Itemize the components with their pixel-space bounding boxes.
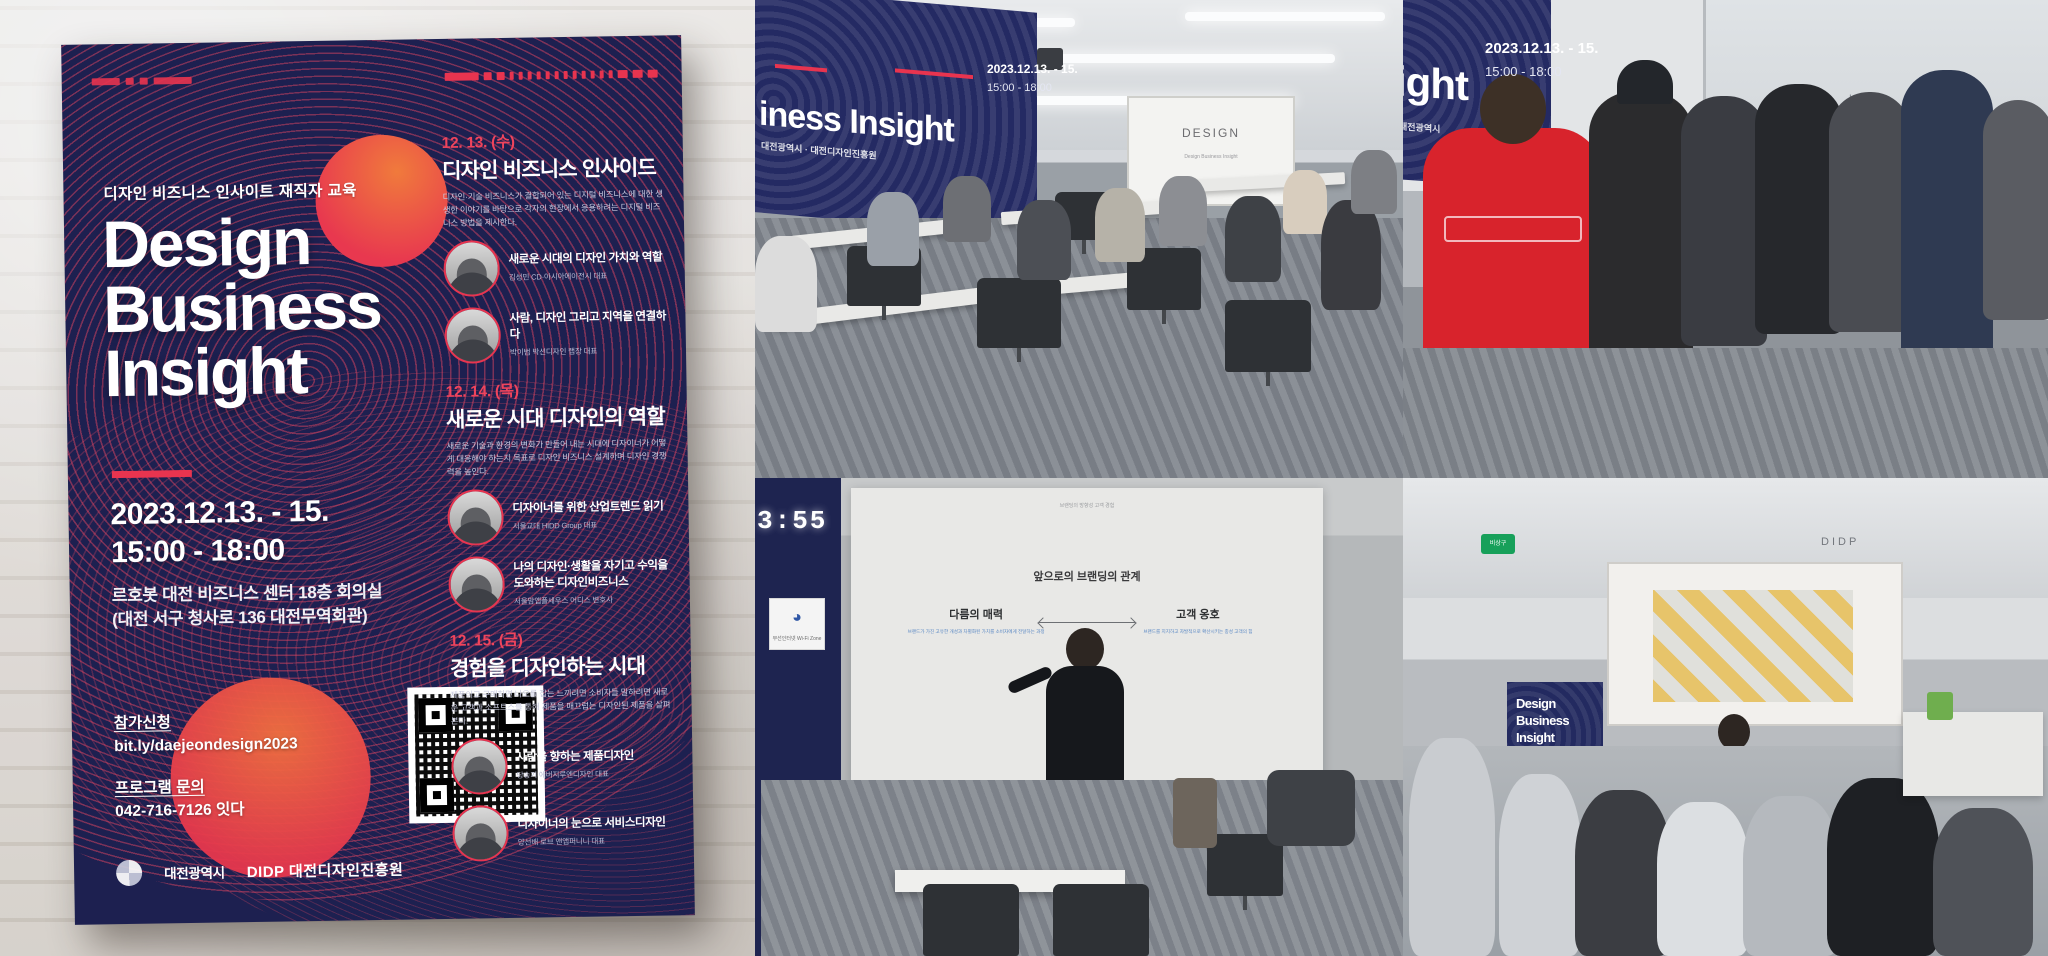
schedule-desc-2: 제품이고 구매하면 나오를 잡는 느끼려면 소비자들 말하려면 새로운 고객과 … (450, 685, 676, 728)
cap-icon (1617, 60, 1673, 104)
poster-title-line-2: Business (103, 271, 454, 341)
photo1-banner-date: 2023.12.13. - 15. (987, 62, 1083, 76)
chair-wood (1173, 778, 1217, 848)
exit-sign-icon: 비상구 (1481, 534, 1515, 554)
plant-icon (1927, 692, 1953, 720)
attendee (1933, 808, 2033, 956)
wifi-icon: ◕ (792, 609, 802, 627)
poster-apply-url: bit.ly/daejeondesign2023 (114, 731, 414, 759)
attendee (1283, 170, 1327, 234)
photo2-banner-sub: 대전광역시 (1403, 119, 1440, 135)
poster-footer-logos: 대전광역시 DIDP 대전디자인진흥원 (116, 856, 404, 887)
speaker-name-1-0: 서울교대 HIDD Group 대표 (513, 519, 673, 533)
poster-venue-block: 르호봇 대전 비즈니스 센터 18층 회의실 (대전 서구 청사로 136 대전… (112, 579, 453, 633)
speaker-title-0-1: 사람, 디자인 그리고 지역을 연결하다 (509, 309, 669, 343)
speaker-name-2-0: 당송기 에버지루엔디자인 대표 (517, 768, 677, 782)
poster-red-divider (112, 470, 192, 478)
photo3-slide-right-body: 브랜드를 지지하고 자발적으로 확산시키는 충성 고객의 힘 (1111, 629, 1285, 636)
photo4-projection-screen (1607, 562, 1903, 726)
speaker-title-1-1: 나의 디자인·생활을 자기고 수익을 도와하는 디자인비즈니스 (513, 558, 673, 592)
speaker-row: 사람을 향하는 제품디자인 당송기 에버지루엔디자인 대표 (451, 735, 677, 795)
chair (1053, 884, 1149, 956)
poster-inquiry-phone: 042-716-7126 잇다 (115, 795, 415, 823)
speaker-row: 사람, 디자인 그리고 지역을 연결하다 박이범 박선디자인 랩장 대표 (444, 304, 670, 364)
photo2-banner-title: ight (1403, 57, 1468, 110)
photo4-rollup-title-3: Insight (1516, 730, 1554, 745)
speaker-row: 디자이너의 눈으로 서비스디자인 양선배 로브 앤앱퍼니니 대표 (452, 802, 678, 862)
poster-date-block: 2023.12.13. - 15. 15:00 - 18:00 (110, 491, 441, 571)
poster-dash-code-left (92, 77, 192, 86)
poster-dash-code-right (445, 70, 658, 81)
attendee (943, 176, 991, 242)
chair (923, 884, 1019, 956)
speaker-title-0-0: 새로운 시대의 디자인 가치와 역할 (508, 250, 668, 268)
photo4-wall-text: DIDP (1821, 536, 1859, 548)
photo-lecture-room-wide: iness Insight 대전광역시 · 대전디자인진흥원 2023.12.1… (755, 0, 1403, 478)
speaker-title-1-0: 디자이너를 위한 산업트렌드 읽기 (512, 499, 672, 517)
photo2-carpet (1403, 348, 2048, 478)
photo3-slide-title: 앞으로의 브랜딩의 관계 (851, 568, 1323, 584)
photo2-person-red-hoodie (1423, 128, 1603, 368)
poster-title: Design Business Insight (102, 207, 455, 406)
speaker-avatar (444, 307, 501, 364)
photo-presenter-with-slide: 3:55 ◕ 무선인터넷 Wi-Fi Zone 브랜딩의 방향성 고객 경험 앞… (755, 478, 1403, 956)
photo3-slide-right-head: 고객 옹호 (1111, 606, 1285, 622)
speaker-avatar (448, 556, 505, 613)
photo4-rollup-title-2: Business (1516, 713, 1569, 728)
photo3-slide-left-head: 다름의 매력 (889, 606, 1063, 622)
schedule-date-2: 12. 15. (금) (449, 625, 674, 651)
attendee (1351, 150, 1397, 214)
attendee (1743, 796, 1839, 956)
schedule-title-2: 경험을 디자인하는 시대 (450, 649, 675, 683)
poster-date: 2023.12.13. - 15. (110, 491, 441, 534)
photo4-rollup-title-1: Design (1516, 696, 1556, 711)
schedule-title-1: 새로운 시대 디자인의 역할 (446, 400, 671, 434)
schedule-date-0: 12. 13. (수) (442, 127, 667, 153)
poster-venue-line-2: (대전 서구 청사로 136 대전무역회관) (112, 603, 452, 632)
speaker-name-1-1: 서울맘앱플세우스 어디스 변호사 (514, 593, 674, 607)
photo3-digital-clock: 3:55 (757, 506, 827, 536)
attendee (1159, 176, 1207, 246)
attendee (1901, 70, 1993, 360)
photo1-banner-time: 15:00 - 18:00 (987, 82, 1083, 94)
poster-schedule: 12. 13. (수) 디자인 비즈니스 인사이드 디자인·기술 비즈니스가 결… (442, 127, 678, 862)
attendee (1321, 200, 1381, 310)
attendee (1499, 774, 1581, 956)
attendee (1657, 802, 1749, 956)
speaker-row: 나의 디자인·생활을 자기고 수익을 도와하는 디자인비즈니스 서울맘앱플세우스… (448, 553, 674, 613)
attendee (1017, 200, 1071, 280)
photo-grid: iness Insight 대전광역시 · 대전디자인진흥원 2023.12.1… (755, 0, 2048, 956)
poster-logo-didp-label: DIDP 대전디자인진흥원 (247, 858, 404, 881)
speaker-title-2-1: 디자이너의 눈으로 서비스디자인 (517, 815, 677, 833)
speaker-avatar (443, 240, 500, 297)
attendee (867, 192, 919, 266)
schedule-desc-1: 새로운 기술과 환경의 변화가 만들어 내는 시대에 디자이너가 어떻게 대응해… (446, 436, 672, 479)
attendee (1225, 196, 1281, 282)
poster-apply-block: 참가신청 bit.ly/daejeondesign2023 프로그램 문의 04… (114, 707, 416, 823)
photo3-wifi-label: 무선인터넷 Wi-Fi Zone (770, 635, 824, 642)
chair (1225, 300, 1311, 372)
speaker-title-2-0: 사람을 향하는 제품디자인 (516, 748, 676, 766)
photo3-slide-kicker: 브랜딩의 방향성 고객 경험 (851, 502, 1323, 509)
attendee (755, 236, 817, 332)
photo2-banner-date: 2023.12.13. - 15. (1485, 40, 1598, 57)
bag (1267, 770, 1355, 846)
speaker-row: 새로운 시대의 디자인 가치와 역할 김성민 CD·아시아에이전시 대표 (443, 237, 669, 297)
speaker-row: 디자이너를 위한 산업트렌드 읽기 서울교대 HIDD Group 대표 (447, 486, 673, 546)
speaker-avatar (447, 489, 504, 546)
poster-photo: 디자인 비즈니스 인사이트 재직자 교육 Design Business Ins… (0, 0, 755, 956)
event-poster: 디자인 비즈니스 인사이트 재직자 교육 Design Business Ins… (61, 35, 695, 925)
photo3-wifi-sign: ◕ 무선인터넷 Wi-Fi Zone (769, 598, 825, 650)
attendee (1095, 188, 1145, 262)
photo1-screen-sub: Design Business Insight (1129, 154, 1293, 160)
poster-title-line-3: Insight (104, 336, 455, 406)
speaker-name-0-0: 김성민 CD·아시아에이전시 대표 (509, 270, 669, 284)
speaker-name-2-1: 양선배 로브 앤앱퍼니니 대표 (518, 835, 678, 849)
chair (977, 278, 1061, 348)
photo2-banner-time: 15:00 - 18:00 (1485, 64, 1562, 79)
attendee (1827, 778, 1939, 956)
attendee (1589, 92, 1693, 372)
speaker-name-0-1: 박이범 박선디자인 랩장 대표 (510, 344, 670, 358)
photo-audience-with-rollup: 비상구 DIDP Design Business Insight 2023.12… (1403, 478, 2048, 956)
poster-time: 15:00 - 18:00 (111, 529, 442, 572)
schedule-title-0: 디자인 비즈니스 인사이드 (442, 151, 667, 185)
speaker-avatar (452, 805, 509, 862)
speaker-avatar (451, 738, 508, 795)
attendee (1829, 92, 1911, 332)
photo-collage: 디자인 비즈니스 인사이트 재직자 교육 Design Business Ins… (0, 0, 2048, 956)
schedule-date-1: 12. 14. (목) (445, 376, 670, 402)
attendee (1409, 738, 1495, 956)
desk (1903, 712, 2043, 796)
photo-networking-standing: love ight 대전광역시 2023.12.13. - 15. 15:00 … (1403, 0, 2048, 478)
attendee (1983, 100, 2048, 320)
schedule-desc-0: 디자인·기술 비즈니스가 결합되어 있는 디지털 비즈니스에 대한 생생한 이야… (442, 187, 668, 230)
daejeon-city-logo-icon (116, 860, 142, 886)
poster-title-line-1: Design (102, 207, 453, 277)
poster-logo-city-label: 대전광역시 (164, 861, 225, 882)
photo1-screen-text: DESIGN (1129, 126, 1293, 140)
